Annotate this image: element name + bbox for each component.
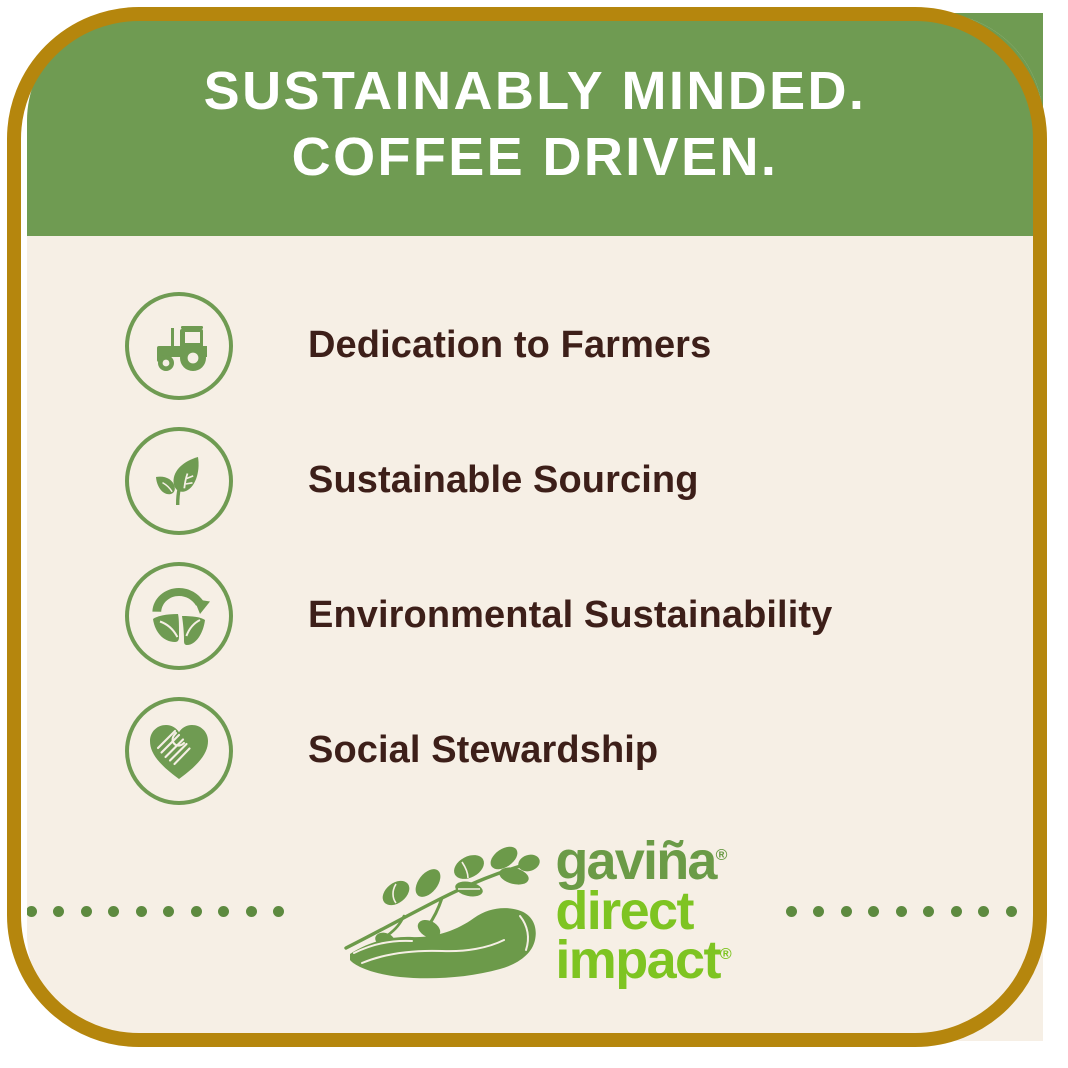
brand-registered-mark: ® <box>716 847 728 864</box>
dot <box>136 906 147 917</box>
dot <box>1033 906 1043 917</box>
program-line-1: direct <box>555 888 731 934</box>
poster-canvas: SUSTAINABLY MINDED. COFFEE DRIVEN. <box>0 0 1068 1068</box>
dot <box>218 906 229 917</box>
header-title-line-1: SUSTAINABLY MINDED. <box>204 59 867 125</box>
decorative-dots-left <box>27 906 284 917</box>
decorative-dots-right <box>786 906 1043 917</box>
dot <box>108 906 119 917</box>
dot <box>1006 906 1017 917</box>
dot <box>27 906 37 917</box>
dot <box>813 906 824 917</box>
program-line-2: impact® <box>555 937 731 983</box>
pillar-item-sustainable-sourcing[interactable]: Sustainable Sourcing <box>125 413 985 548</box>
dot <box>951 906 962 917</box>
pillar-list: Dedication to Farmers <box>125 278 985 818</box>
brand-name: gaviña® <box>555 838 731 884</box>
dot <box>978 906 989 917</box>
dot <box>896 906 907 917</box>
card-body: Dedication to Farmers <box>27 236 1043 1041</box>
pillar-label: Sustainable Sourcing <box>308 459 699 502</box>
footer-lockup: gaviña® direct impact® <box>27 821 1043 1001</box>
content-card: SUSTAINABLY MINDED. COFFEE DRIVEN. <box>27 13 1043 1041</box>
brand-lockup[interactable]: gaviña® direct impact® <box>338 836 731 986</box>
dot <box>81 906 92 917</box>
dot <box>923 906 934 917</box>
dot <box>841 906 852 917</box>
tractor-icon <box>125 292 233 400</box>
pillar-label: Social Stewardship <box>308 729 658 772</box>
program-registered-mark: ® <box>720 946 732 963</box>
header-banner: SUSTAINABLY MINDED. COFFEE DRIVEN. <box>27 13 1043 236</box>
dot <box>53 906 64 917</box>
wordmark: gaviña® direct impact® <box>555 838 731 983</box>
pillar-label: Dedication to Farmers <box>308 324 711 367</box>
program-line-2-text: impact <box>555 930 719 990</box>
pillar-item-environmental-sustainability[interactable]: Environmental Sustainability <box>125 548 985 683</box>
leaves-icon <box>125 427 233 535</box>
dot <box>868 906 879 917</box>
dot <box>246 906 257 917</box>
pillar-item-dedication-to-farmers[interactable]: Dedication to Farmers <box>125 278 985 413</box>
dot <box>273 906 284 917</box>
hand-holding-coffee-branch-icon <box>338 836 553 986</box>
pillar-item-social-stewardship[interactable]: Social Stewardship <box>125 683 985 818</box>
dot <box>786 906 797 917</box>
handshake-heart-icon <box>125 697 233 805</box>
dot <box>191 906 202 917</box>
dot <box>163 906 174 917</box>
recycle-leaf-icon <box>125 562 233 670</box>
pillar-label: Environmental Sustainability <box>308 594 832 637</box>
header-title-line-2: COFFEE DRIVEN. <box>292 125 779 191</box>
